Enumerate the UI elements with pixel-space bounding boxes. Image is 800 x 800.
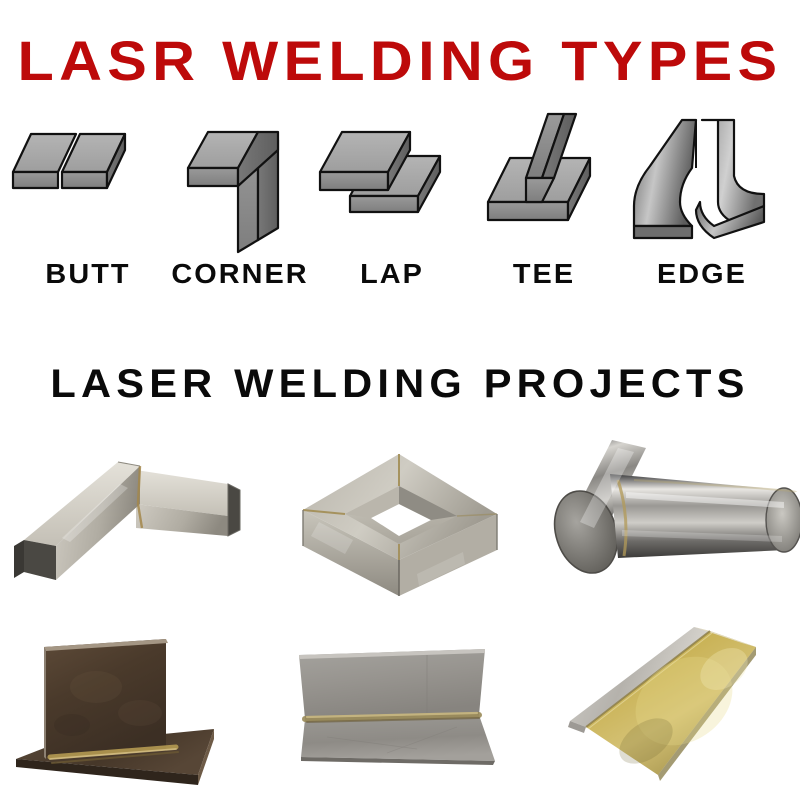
edge-joint-icon [622,110,782,260]
square-box-frame-weld-photo [267,418,533,609]
section-title-projects: LASER WELDING PROJECTS [0,362,800,407]
project-photo[interactable] [0,609,266,800]
weld-type-tee: TEE [464,110,624,300]
projects-photo-grid [0,418,800,800]
square-tube-corner-weld-photo [0,418,266,609]
project-photo[interactable] [534,609,800,800]
project-photo[interactable] [267,418,533,609]
weld-type-lap: LAP [312,110,472,300]
poster-root: LASR WELDING TYPES [0,0,800,800]
lap-joint-icon [312,110,472,260]
round-tube-branch-weld-photo [534,418,800,609]
weld-type-label: CORNER [158,258,323,290]
brass-angle-corner-weld-photo [534,609,800,800]
weld-type-label: LAP [310,258,475,290]
corner-joint-icon [160,110,320,260]
tee-joint-icon [464,110,624,260]
project-photo[interactable] [534,418,800,609]
weld-type-label: TEE [462,258,627,290]
project-photo[interactable] [267,609,533,800]
project-photo[interactable] [0,418,266,609]
weld-type-row: BUTT CORNER [0,110,800,300]
weld-type-label: EDGE [620,258,785,290]
weld-type-butt: BUTT [8,110,168,300]
page-title: LASR WELDING TYPES [0,28,800,93]
weld-type-label: BUTT [6,258,171,290]
rusty-plate-tee-weld-photo [0,609,266,800]
butt-joint-icon [8,110,168,260]
weld-type-edge: EDGE [622,110,782,300]
weld-type-corner: CORNER [160,110,320,300]
plate-corner-seam-weld-photo [267,609,533,800]
